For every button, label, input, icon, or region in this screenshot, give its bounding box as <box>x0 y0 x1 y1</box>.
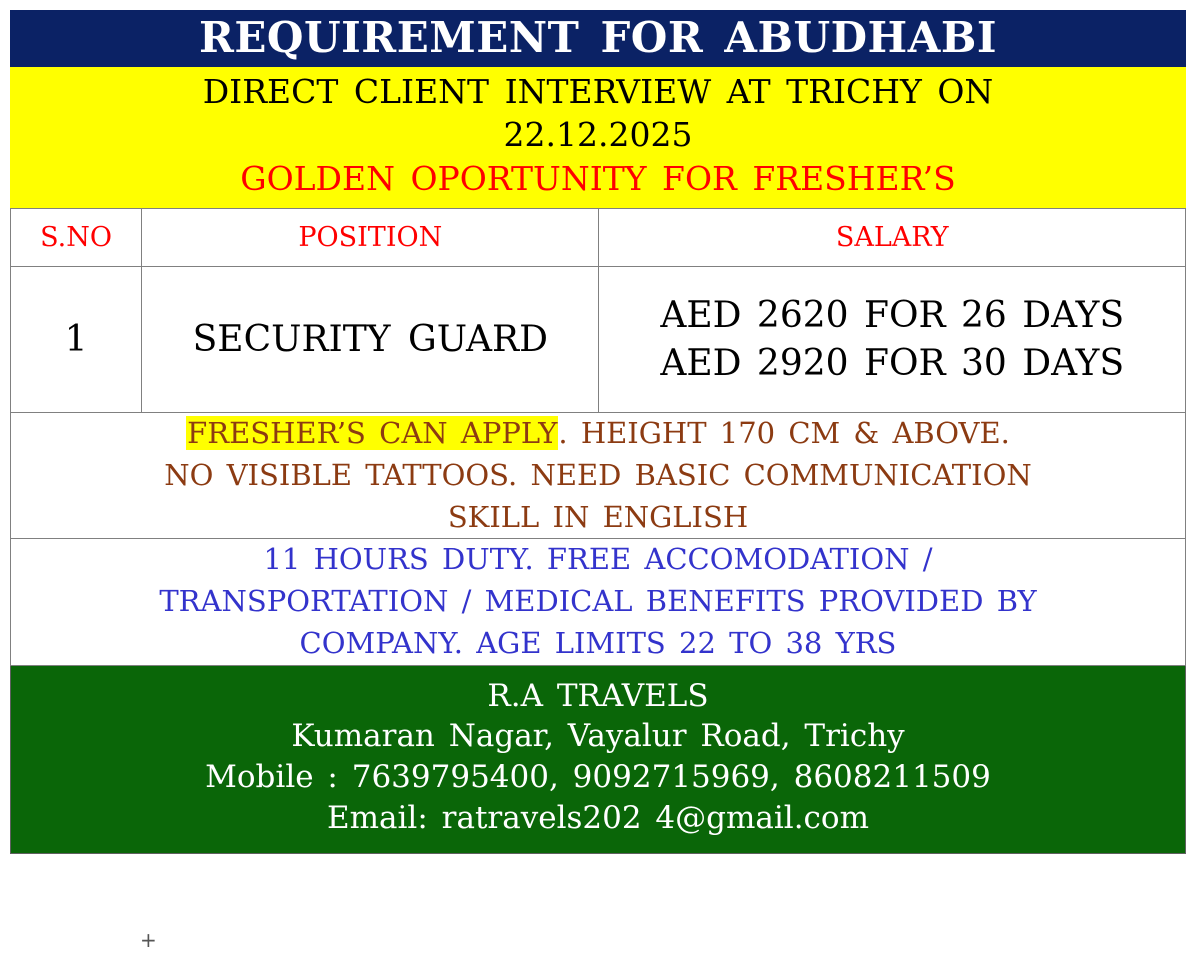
salary-line-30-days: AED 2920 FOR 30 DAYS <box>599 340 1185 388</box>
company-name: R.A TRAVELS <box>11 676 1185 717</box>
benefits-cell: 11 HOURS DUTY. FREE ACCOMODATION / TRANS… <box>11 539 1186 665</box>
cell-sno: 1 <box>11 267 142 413</box>
freshers-opportunity-line: GOLDEN OPORTUNITY FOR FRESHER’S <box>40 158 1156 200</box>
benefits-line-2: TRANSPORTATION / MEDICAL BENEFITS PROVID… <box>11 581 1185 623</box>
table-header-row: S.NO POSITION SALARY <box>11 209 1186 267</box>
cell-position: SECURITY GUARD <box>142 267 599 413</box>
requirements-line-3: SKILL IN ENGLISH <box>11 497 1185 539</box>
company-email: Email: ratravels202 4@gmail.com <box>11 798 1185 839</box>
page-title: REQUIREMENT FOR ABUDHABI <box>10 15 1186 60</box>
table-row: 1 SECURITY GUARD AED 2620 FOR 26 DAYS AE… <box>11 267 1186 413</box>
interview-date: 22.12.2025 <box>40 114 1156 156</box>
column-header-salary: SALARY <box>599 209 1186 267</box>
contact-footer: R.A TRAVELS Kumaran Nagar, Vayalur Road,… <box>10 666 1186 855</box>
requirements-line-2: NO VISIBLE TATTOOS. NEED BASIC COMMUNICA… <box>11 455 1185 497</box>
poster-title-banner: REQUIREMENT FOR ABUDHABI <box>10 10 1186 67</box>
job-advertisement-poster: REQUIREMENT FOR ABUDHABI DIRECT CLIENT I… <box>10 10 1186 854</box>
benefits-line-3: COMPANY. AGE LIMITS 22 TO 38 YRS <box>11 623 1185 665</box>
salary-line-26-days: AED 2620 FOR 26 DAYS <box>599 292 1185 340</box>
benefits-line-1: 11 HOURS DUTY. FREE ACCOMODATION / <box>11 539 1185 581</box>
requirements-cell: FRESHER’S CAN APPLY. HEIGHT 170 CM & ABO… <box>11 413 1186 539</box>
benefits-row: 11 HOURS DUTY. FREE ACCOMODATION / TRANS… <box>11 539 1186 665</box>
plus-marker-icon: + <box>140 930 157 950</box>
company-address: Kumaran Nagar, Vayalur Road, Trichy <box>11 716 1185 757</box>
freshers-highlight: FRESHER’S CAN APPLY <box>186 416 558 450</box>
column-header-sno: S.NO <box>11 209 142 267</box>
requirements-line-1: FRESHER’S CAN APPLY. HEIGHT 170 CM & ABO… <box>11 413 1185 455</box>
interview-location-line: DIRECT CLIENT INTERVIEW AT TRICHY ON <box>40 71 1156 113</box>
company-mobile-numbers: Mobile : 7639795400, 9092715969, 8608211… <box>11 757 1185 798</box>
column-header-position: POSITION <box>142 209 599 267</box>
requirements-row: FRESHER’S CAN APPLY. HEIGHT 170 CM & ABO… <box>11 413 1186 539</box>
cell-salary: AED 2620 FOR 26 DAYS AED 2920 FOR 30 DAY… <box>599 267 1186 413</box>
requirements-line-1-rest: . HEIGHT 170 CM & ABOVE. <box>558 416 1009 450</box>
interview-announcement-banner: DIRECT CLIENT INTERVIEW AT TRICHY ON 22.… <box>10 67 1186 208</box>
positions-table: S.NO POSITION SALARY 1 SECURITY GUARD AE… <box>10 208 1186 666</box>
